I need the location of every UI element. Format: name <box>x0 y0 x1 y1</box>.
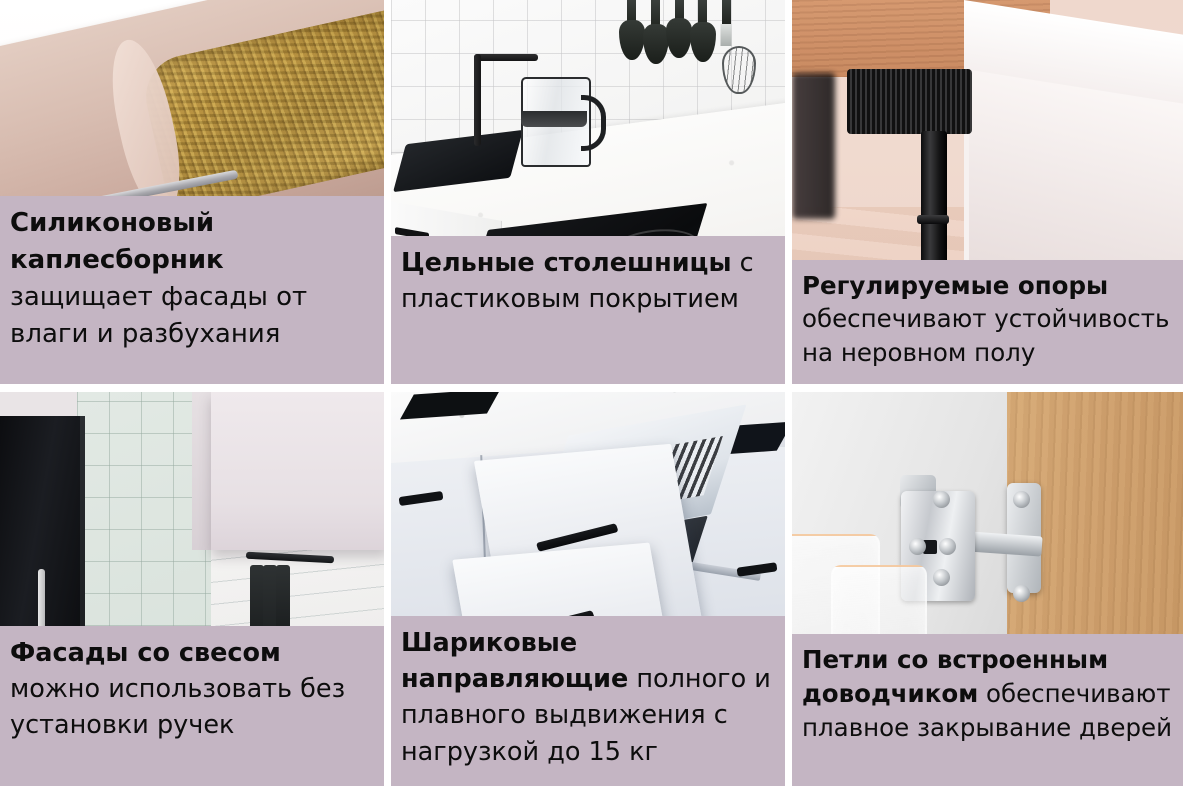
hinge-screw-icon <box>933 569 950 586</box>
hanging-towel <box>276 565 290 635</box>
hinge-screw-icon <box>1013 491 1030 508</box>
feature-caption: Регулируемые опоры обеспечивают устойчив… <box>792 260 1183 384</box>
utensil-icon <box>675 0 684 24</box>
feature-card-adjustable-legs[interactable]: Регулируемые опоры обеспечивают устойчив… <box>792 0 1183 384</box>
kettle-base <box>521 111 587 127</box>
leg-adjustment-ring <box>917 215 949 224</box>
feature-caption: Шариковые направляющие полного и плавног… <box>391 616 785 786</box>
hinge-screw-icon <box>909 538 926 555</box>
feature-card-soft-close-hinges[interactable]: Петли со встроенным доводчиком обеспечив… <box>792 392 1183 786</box>
feature-caption: Силиконовый каплесборник защищает фасады… <box>0 196 384 384</box>
feature-caption: Цельные столешницы с пластиковым покрыти… <box>391 236 785 384</box>
utensil-icon <box>627 0 636 26</box>
faucet-body <box>474 54 481 146</box>
feature-card-solid-countertops[interactable]: Цельные столешницы с пластиковым покрыти… <box>391 0 785 384</box>
caption-bold-text: Фасады со свесом <box>10 638 281 668</box>
upper-cabinet-overhang <box>211 392 384 550</box>
caption-bold-text: Шариковые направляющие <box>401 628 628 694</box>
feature-card-overhang-fronts[interactable]: Фасады со свесом можно использовать без … <box>0 392 384 786</box>
background-leg-blurred <box>792 73 835 219</box>
caption-bold-text: Силиконовый каплесборник <box>10 208 224 275</box>
feature-caption: Петли со встроенным доводчиком обеспечив… <box>792 634 1183 786</box>
caption-bold-text: Регулируемые опоры <box>802 271 1108 300</box>
caption-rest-text: можно использовать без установки ручек <box>10 674 345 740</box>
feature-caption: Фасады со свесом можно использовать без … <box>0 626 384 786</box>
hinge-screw-icon <box>933 491 950 508</box>
hinge-screw-icon <box>1013 585 1030 602</box>
features-grid: Силиконовый каплесборник защищает фасады… <box>0 0 1183 786</box>
utensil-icon <box>722 0 731 24</box>
caption-rest-text: обеспечивают устойчивость на неровном по… <box>802 304 1169 366</box>
faucet-spout <box>474 54 538 61</box>
caption-bold-text: Цельные столешницы <box>401 248 732 278</box>
feature-card-silicone-drip-catcher[interactable]: Силиконовый каплесборник защищает фасады… <box>0 0 384 384</box>
caption-rest-text: защищает фасады от влаги и разбухания <box>10 282 307 349</box>
leg-mounting-bracket <box>847 69 972 134</box>
hinge-screw-icon <box>939 538 956 555</box>
utensil-icon <box>651 0 660 30</box>
feature-card-ball-bearing-slides[interactable]: Шариковые направляющие полного и плавног… <box>391 392 785 786</box>
utensil-icon <box>698 0 707 28</box>
